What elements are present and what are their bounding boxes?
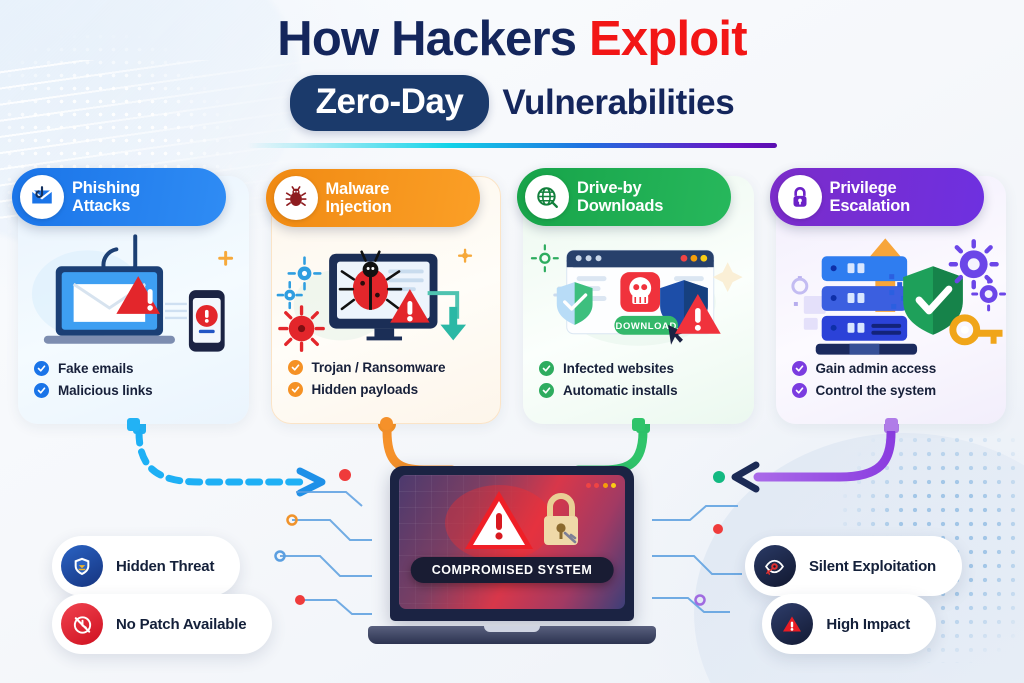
- check-icon: [288, 360, 303, 375]
- check-icon: [34, 361, 49, 376]
- attack-cards-row: PhishingAttacks: [18, 176, 1006, 424]
- list-item: Trojan / Ransomware: [288, 360, 446, 375]
- pill-label: No Patch Available: [116, 616, 246, 633]
- bullet-label: Malicious links: [58, 383, 153, 398]
- page-title: How Hackers Exploit: [0, 14, 1024, 66]
- globe-icon: [525, 175, 569, 219]
- pill-high-impact[interactable]: High Impact: [762, 594, 936, 654]
- card-title-driveby: Drive-byDownloads: [577, 179, 663, 216]
- illustration-malware: [272, 233, 501, 369]
- bullets-malware: Trojan / Ransomware Hidden payloads: [288, 360, 446, 397]
- list-item: Fake emails: [34, 361, 153, 376]
- pill-label: Silent Exploitation: [809, 558, 936, 575]
- illustration-phishing: [18, 232, 249, 368]
- card-nub: [380, 417, 393, 430]
- compromised-system-device: COMPROMISED SYSTEM: [368, 466, 656, 652]
- bullet-label: Infected websites: [563, 361, 674, 376]
- bullets-phishing: Fake emails Malicious links: [34, 361, 153, 398]
- pill-label: Hidden Threat: [116, 558, 214, 575]
- shield-icon: [61, 545, 103, 587]
- check-icon: [539, 383, 554, 398]
- laptop-screen: COMPROMISED SYSTEM: [399, 475, 625, 609]
- card-phishing-attacks[interactable]: PhishingAttacks: [18, 176, 249, 424]
- pill-hidden-threat[interactable]: Hidden Threat: [52, 536, 240, 596]
- card-malware-injection[interactable]: MalwareInjection: [271, 176, 502, 424]
- laptop-base: [368, 626, 656, 644]
- card-header-phishing[interactable]: PhishingAttacks: [12, 168, 226, 226]
- card-nub: [632, 418, 645, 431]
- card-title-phishing: PhishingAttacks: [72, 179, 140, 216]
- list-item: Gain admin access: [792, 361, 937, 376]
- bullet-label: Control the system: [816, 383, 936, 398]
- bullet-label: Trojan / Ransomware: [312, 360, 446, 375]
- list-item: Hidden payloads: [288, 382, 446, 397]
- subtitle-rest: Vulnerabilities: [502, 83, 734, 123]
- list-item: Malicious links: [34, 383, 153, 398]
- pill-silent-exploitation[interactable]: Silent Exploitation: [745, 536, 962, 596]
- check-icon: [34, 383, 49, 398]
- illustration-privilege: [776, 232, 1007, 368]
- list-item: Infected websites: [539, 361, 677, 376]
- page-subtitle: Zero-Day Vulnerabilities: [0, 75, 1024, 131]
- clock-slash-icon: [61, 603, 103, 645]
- check-icon: [792, 361, 807, 376]
- compromised-system-label: COMPROMISED SYSTEM: [411, 557, 614, 583]
- card-title-malware: MalwareInjection: [326, 180, 392, 217]
- illustration-driveby: DOWNLOAD: [523, 232, 754, 368]
- card-header-driveby[interactable]: Drive-byDownloads: [517, 168, 731, 226]
- bug-icon: [274, 176, 318, 220]
- warning-triangle-icon: [771, 603, 813, 645]
- pill-label: High Impact: [826, 616, 910, 633]
- check-icon: [539, 361, 554, 376]
- title-part-exploit: Exploit: [589, 12, 747, 66]
- check-icon: [288, 382, 303, 397]
- laptop-lid: COMPROMISED SYSTEM: [390, 466, 634, 621]
- card-drive-by-downloads[interactable]: Drive-byDownloads: [523, 176, 754, 424]
- card-privilege-escalation[interactable]: PrivilegeEscalation: [776, 176, 1007, 424]
- bullets-driveby: Infected websites Automatic installs: [539, 361, 677, 398]
- card-header-privilege[interactable]: PrivilegeEscalation: [770, 168, 984, 226]
- lock-icon: [778, 175, 822, 219]
- card-header-malware[interactable]: MalwareInjection: [266, 169, 480, 227]
- check-icon: [792, 383, 807, 398]
- title-underline: [247, 143, 777, 148]
- bullet-label: Gain admin access: [816, 361, 937, 376]
- bullet-label: Hidden payloads: [312, 382, 419, 397]
- list-item: Control the system: [792, 383, 937, 398]
- pill-no-patch-available[interactable]: No Patch Available: [52, 594, 272, 654]
- bullets-privilege: Gain admin access Control the system: [792, 361, 937, 398]
- download-button-label: DOWNLOAD: [616, 320, 677, 331]
- screen-icons: [399, 475, 625, 609]
- zero-day-chip: Zero-Day: [290, 75, 490, 131]
- bullet-label: Fake emails: [58, 361, 133, 376]
- card-nub: [127, 418, 140, 431]
- bullet-label: Automatic installs: [563, 383, 677, 398]
- list-item: Automatic installs: [539, 383, 677, 398]
- envelope-hook-icon: [20, 175, 64, 219]
- title-part-main: How Hackers: [277, 12, 589, 66]
- infographic-canvas: How Hackers Exploit Zero-Day Vulnerabili…: [0, 0, 1024, 683]
- card-title-privilege: PrivilegeEscalation: [830, 179, 911, 216]
- card-nub: [885, 418, 898, 431]
- eye-target-icon: [754, 545, 796, 587]
- page-header: How Hackers Exploit Zero-Day Vulnerabili…: [0, 14, 1024, 148]
